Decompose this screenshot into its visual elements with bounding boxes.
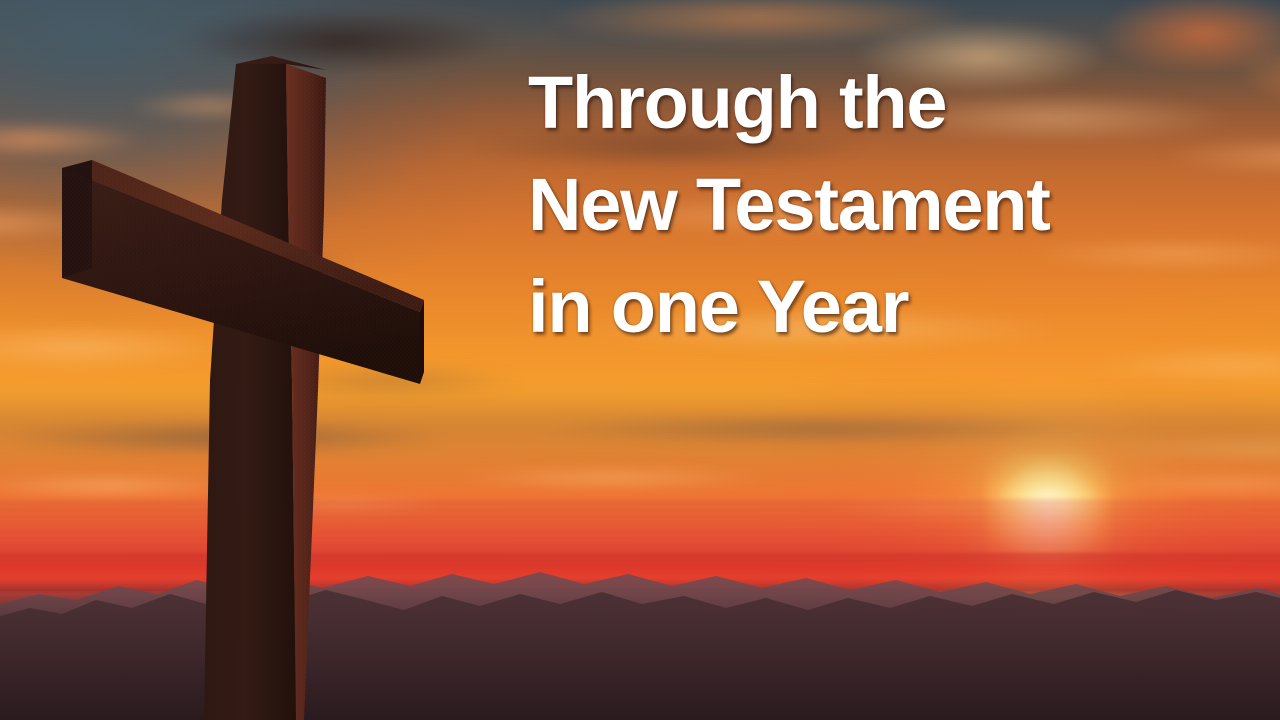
title-line-2: New Testament xyxy=(528,154,1228,256)
sun-icon xyxy=(986,453,1110,577)
cool-sky-upper-left xyxy=(0,0,560,330)
ground-haze xyxy=(0,586,1280,720)
title-line-1: Through the xyxy=(528,52,1228,154)
page-title: Through the New Testament in one Year xyxy=(528,52,1228,358)
slide-canvas: Through the New Testament in one Year xyxy=(0,0,1280,720)
title-line-3: in one Year xyxy=(528,256,1228,358)
